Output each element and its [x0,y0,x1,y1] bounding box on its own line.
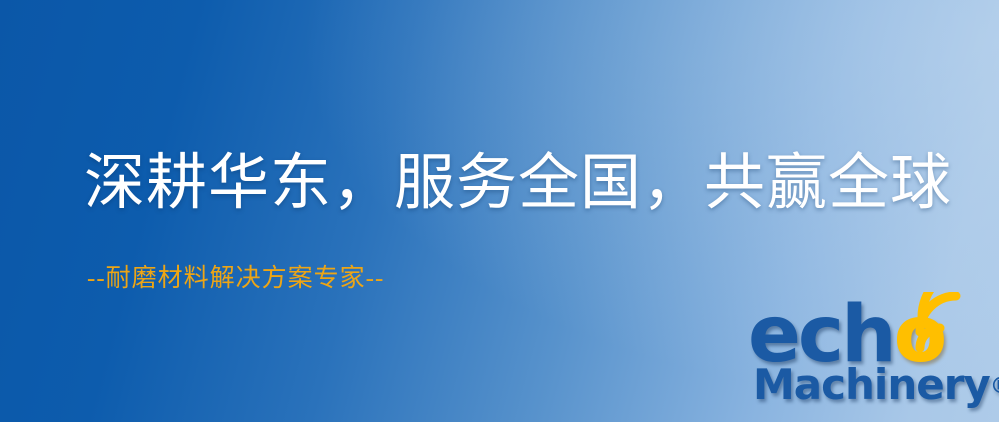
banner-headline: 深耕华东，服务全国，共赢全球 [84,152,952,216]
echo-machinery-logo: echo Machinery® [748,296,999,422]
banner-subtitle: --耐磨材料解决方案专家-- [87,264,384,294]
logo-sub-text: Machinery [753,360,990,409]
promo-banner: 深耕华东，服务全国，共赢全球 --耐磨材料解决方案专家-- echo Machi… [0,0,999,422]
signal-waves-icon [912,292,980,354]
logo-sub-wordmark: Machinery® [753,364,999,408]
registered-trademark-icon: ® [990,374,999,399]
